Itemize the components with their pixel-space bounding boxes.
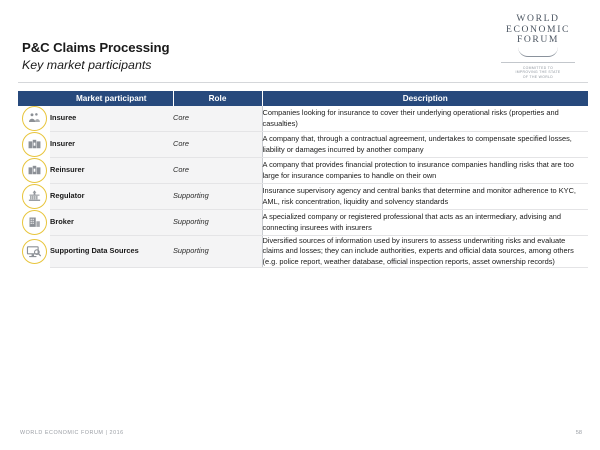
insurance-building-icon: [22, 132, 47, 157]
participant-description: Insurance supervisory agency and central…: [262, 184, 588, 210]
participant-description: A company that, through a contractual ag…: [262, 132, 588, 158]
insurance-building-icon: [22, 158, 47, 183]
office-buildings-icon: [22, 210, 47, 235]
participant-role: Core: [173, 106, 262, 132]
table-row: Insurer Core A company that, through a c…: [18, 132, 588, 158]
column-header-participant: Market participant: [50, 91, 173, 106]
government-building-icon: [22, 184, 47, 209]
title-block: P&C Claims Processing Key market partici…: [22, 40, 169, 73]
participant-name: Broker: [50, 210, 173, 236]
column-header-icon: [18, 91, 50, 106]
participant-name: Reinsurer: [50, 158, 173, 184]
table-row: Regulator Supporting Insurance superviso…: [18, 184, 588, 210]
table-header-row: Market participant Role Description: [18, 91, 588, 106]
logo-line-world: WORLD: [490, 14, 586, 25]
logo-line-forum: FORUM: [490, 35, 586, 46]
row-icon-cell: [18, 210, 50, 236]
footer-page-number: 58: [576, 430, 582, 436]
wef-logo: WORLD ECONOMIC FORUM COMMITTED TO IMPROV…: [490, 14, 586, 79]
participant-description: A specialized company or registered prof…: [262, 210, 588, 236]
participant-name: Insuree: [50, 106, 173, 132]
table-row: Supporting Data Sources Supporting Diver…: [18, 236, 588, 268]
participant-description: Diversified sources of information used …: [262, 236, 588, 268]
market-participants-table: Market participant Role Description: [18, 91, 588, 268]
participant-description: A company that provides financial protec…: [262, 158, 588, 184]
footer-source: WORLD ECONOMIC FORUM | 2016: [20, 430, 124, 436]
page-subtitle: Key market participants: [22, 57, 169, 73]
slide-header: P&C Claims Processing Key market partici…: [0, 0, 600, 82]
row-icon-cell: [18, 132, 50, 158]
row-icon-cell: [18, 106, 50, 132]
table-row: Reinsurer Core A company that provides f…: [18, 158, 588, 184]
row-icon-cell: [18, 184, 50, 210]
participant-description: Companies looking for insurance to cover…: [262, 106, 588, 132]
logo-swoosh-icon: [518, 47, 558, 57]
participant-role: Core: [173, 132, 262, 158]
page-title: P&C Claims Processing: [22, 40, 169, 55]
column-header-role: Role: [173, 91, 262, 106]
logo-divider: [501, 62, 575, 63]
monitor-search-icon: [22, 239, 47, 264]
people-group-icon: [22, 106, 47, 131]
table-row: Broker Supporting A specialized company …: [18, 210, 588, 236]
table-row: Insuree Core Companies looking for insur…: [18, 106, 588, 132]
row-icon-cell: [18, 236, 50, 268]
column-header-description: Description: [262, 91, 588, 106]
header-divider: [18, 82, 588, 83]
participant-role: Supporting: [173, 210, 262, 236]
participant-name: Regulator: [50, 184, 173, 210]
participant-name: Supporting Data Sources: [50, 236, 173, 268]
row-icon-cell: [18, 158, 50, 184]
participant-role: Supporting: [173, 184, 262, 210]
logo-tagline-line3: OF THE WORLD: [490, 75, 586, 79]
participant-name: Insurer: [50, 132, 173, 158]
participant-role: Supporting: [173, 236, 262, 268]
participant-role: Core: [173, 158, 262, 184]
